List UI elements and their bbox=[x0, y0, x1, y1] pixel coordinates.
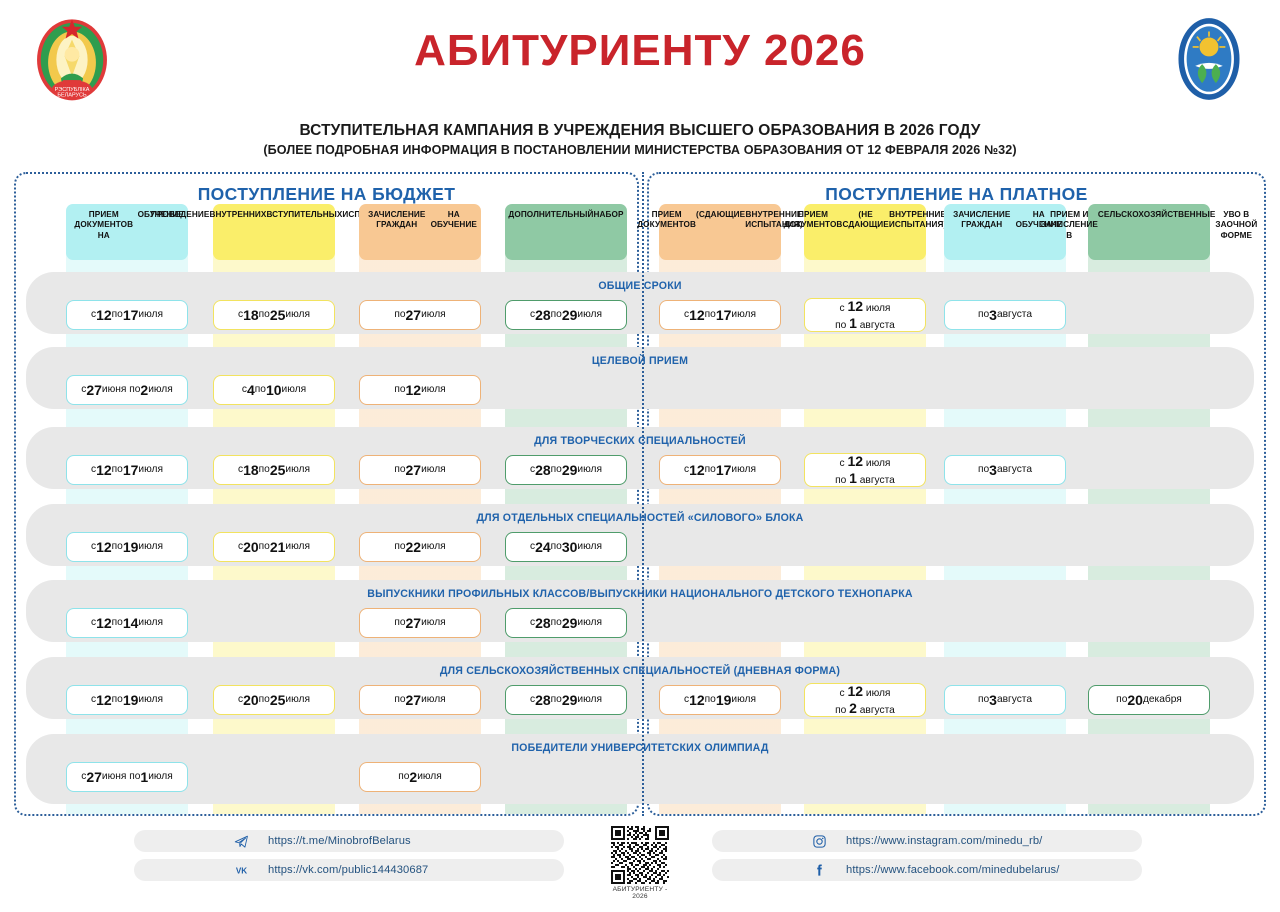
column-header-line: ПРИЕМ ДОКУМЕНТОВ bbox=[637, 210, 696, 231]
date-chip: с 12 июляпо 1 августа bbox=[804, 453, 926, 487]
timeline-row-label: ОБЩИЕ СРОКИ bbox=[26, 280, 1254, 292]
social-link-url[interactable]: https://www.instagram.com/minedu_rb/ bbox=[846, 835, 1042, 847]
date-chip: с 28 по 29 июля bbox=[505, 455, 627, 485]
date-chip: с 12 июляпо 1 августа bbox=[804, 298, 926, 332]
date-chip: с 28 по 29 июля bbox=[505, 685, 627, 715]
timeline-row: ВЫПУСКНИКИ ПРОФИЛЬНЫХ КЛАССОВ/ВЫПУСКНИКИ… bbox=[26, 580, 1254, 642]
timeline-row-label: ВЫПУСКНИКИ ПРОФИЛЬНЫХ КЛАССОВ/ВЫПУСКНИКИ… bbox=[26, 588, 1254, 600]
page-title: АБИТУРИЕНТУ 2026 bbox=[0, 26, 1280, 76]
timeline-row-label: ПОБЕДИТЕЛИ УНИВЕРСИТЕТСКИХ ОЛИМПИАД bbox=[26, 742, 1254, 754]
page-header: РЭСПУБЛІКА БЕЛАРУСЬ АБИТУРИЕНТУ 2026 bbox=[0, 0, 1280, 108]
social-link-row[interactable]: https://t.me/MinobrofBelarus bbox=[134, 830, 564, 852]
instagram-icon[interactable] bbox=[808, 830, 830, 852]
social-link-row[interactable]: https://www.facebook.com/minedubelarus/ bbox=[712, 859, 1142, 881]
column-header-c2: ПРОВЕДЕНИЕВНУТРЕННИХВСТУПИТЕЛЬНЫХИСПЫТАН… bbox=[213, 204, 335, 260]
column-header-line: ПРИЕМ И ЗАЧИСЛЕНИЕ В bbox=[1041, 210, 1098, 241]
qr-caption: АБИТУРИЕНТУ - 2026 bbox=[604, 886, 676, 900]
date-chip: с 12 по 17 июля bbox=[66, 300, 188, 330]
date-chip: по 27 июля bbox=[359, 455, 481, 485]
column-header-line: ПРИЕМ ДОКУМЕНТОВ НА bbox=[70, 210, 138, 241]
date-chip: с 18 по 25 июля bbox=[213, 455, 335, 485]
column-header-line: (НЕ СДАЮЩИЕ bbox=[842, 210, 888, 231]
timeline-row-label: ДЛЯ ТВОРЧЕСКИХ СПЕЦИАЛЬНОСТЕЙ bbox=[26, 435, 1254, 447]
date-chip: с 28 по 29 июля bbox=[505, 300, 627, 330]
social-link-row[interactable]: https://www.instagram.com/minedu_rb/ bbox=[712, 830, 1142, 852]
timeline-row: ПОБЕДИТЕЛИ УНИВЕРСИТЕТСКИХ ОЛИМПИАД bbox=[26, 734, 1254, 804]
social-link-url[interactable]: https://vk.com/public144430687 bbox=[268, 864, 428, 876]
date-chip: с 4 по 10 июля bbox=[213, 375, 335, 405]
date-chip: по 12 июля bbox=[359, 375, 481, 405]
infographic-page: РЭСПУБЛІКА БЕЛАРУСЬ АБИТУРИЕНТУ 2026 ВСТ… bbox=[0, 0, 1280, 912]
date-chip: с 27 июня по 2 июля bbox=[66, 375, 188, 405]
column-header-c6: ПРИЕМ ДОКУМЕНТОВ(НЕ СДАЮЩИЕВНУТРЕННИЕ ИС… bbox=[804, 204, 926, 260]
column-header-line: ДОПОЛНИТЕЛЬНЫЙ bbox=[508, 210, 593, 220]
date-chip: по 2 июля bbox=[359, 762, 481, 792]
page-footer: https://t.me/MinobrofBelarusVKhttps://vk… bbox=[0, 824, 1280, 912]
timeline-row-label: ЦЕЛЕВОЙ ПРИЕМ bbox=[26, 355, 1254, 367]
qr-code bbox=[611, 826, 669, 884]
date-chip: с 12 по 19 июля bbox=[659, 685, 781, 715]
column-header-line: СЕЛЬСКОХОЗЯЙСТВЕННЫЕ bbox=[1098, 210, 1215, 220]
column-header-line: ПРОВЕДЕНИЕ bbox=[151, 210, 210, 220]
social-link-row[interactable]: VKhttps://vk.com/public144430687 bbox=[134, 859, 564, 881]
column-header-c5: ПРИЕМ ДОКУМЕНТОВ(СДАЮЩИЕВНУТРЕННИЕ ИСПЫТ… bbox=[659, 204, 781, 260]
column-header-line: ВСТУПИТЕЛЬНЫХ bbox=[266, 210, 342, 220]
date-chip: по 27 июля bbox=[359, 300, 481, 330]
timeline-row: ДЛЯ СЕЛЬСКОХОЗЯЙСТВЕННЫХ СПЕЦИАЛЬНОСТЕЙ … bbox=[26, 657, 1254, 719]
section-title-paid: ПОСТУПЛЕНИЕ НА ПЛАТНОЕ bbox=[647, 184, 1266, 205]
social-links-right: https://www.instagram.com/minedu_rb/http… bbox=[712, 830, 1142, 888]
social-links-left: https://t.me/MinobrofBelarusVKhttps://vk… bbox=[134, 830, 564, 888]
column-header-c4: ДОПОЛНИТЕЛЬНЫЙНАБОР bbox=[505, 204, 627, 260]
date-chip: с 18 по 25 июля bbox=[213, 300, 335, 330]
subtitle-primary: ВСТУПИТЕЛЬНАЯ КАМПАНИЯ В УЧРЕЖДЕНИЯ ВЫСШ… bbox=[0, 122, 1280, 140]
date-chip: по 27 июля bbox=[359, 685, 481, 715]
date-chip: с 24 по 30 июля bbox=[505, 532, 627, 562]
date-chip: с 12 по 17 июля bbox=[66, 455, 188, 485]
section-divider bbox=[642, 172, 644, 816]
date-chip: с 20 по 21 июля bbox=[213, 532, 335, 562]
column-header-c3: ЗАЧИСЛЕНИЕ ГРАЖДАННА ОБУЧЕНИЕ bbox=[359, 204, 481, 260]
column-header-line: ПРИЕМ ДОКУМЕНТОВ bbox=[784, 210, 843, 231]
date-chip: по 3 августа bbox=[944, 300, 1066, 330]
date-chip: по 20 декабря bbox=[1088, 685, 1210, 715]
date-chip: с 12 по 14 июля bbox=[66, 608, 188, 638]
date-chip: с 27 июня по 1 июля bbox=[66, 762, 188, 792]
column-header-line: НА ОБУЧЕНИЕ bbox=[431, 210, 477, 231]
column-header-c8: ПРИЕМ И ЗАЧИСЛЕНИЕ ВСЕЛЬСКОХОЗЯЙСТВЕННЫЕ… bbox=[1088, 204, 1210, 260]
date-chip: с 12 по 17 июля bbox=[659, 455, 781, 485]
date-chip: по 22 июля bbox=[359, 532, 481, 562]
qr-block: АБИТУРИЕНТУ - 2026 bbox=[604, 826, 676, 900]
date-chip: с 12 по 19 июля bbox=[66, 532, 188, 562]
date-chip: по 3 августа bbox=[944, 455, 1066, 485]
date-chip: по 27 июля bbox=[359, 608, 481, 638]
social-link-url[interactable]: https://t.me/MinobrofBelarus bbox=[268, 835, 411, 847]
subtitle-secondary: (БОЛЕЕ ПОДРОБНАЯ ИНФОРМАЦИЯ В ПОСТАНОВЛЕ… bbox=[0, 143, 1280, 157]
timeline-row-label: ДЛЯ СЕЛЬСКОХОЗЯЙСТВЕННЫХ СПЕЦИАЛЬНОСТЕЙ … bbox=[26, 665, 1254, 677]
facebook-icon[interactable] bbox=[808, 859, 830, 881]
column-header-line: (СДАЮЩИЕ bbox=[696, 210, 745, 220]
timeline-row: ОБЩИЕ СРОКИ bbox=[26, 272, 1254, 334]
column-header-line: УВО В ЗАОЧНОЙ ФОРМЕ bbox=[1215, 210, 1257, 241]
svg-text:БЕЛАРУСЬ: БЕЛАРУСЬ bbox=[57, 93, 87, 99]
column-header-line: ВНУТРЕННИЕ ИСПЫТАНИЯ) bbox=[889, 210, 947, 231]
timeline-row-label: ДЛЯ ОТДЕЛЬНЫХ СПЕЦИАЛЬНОСТЕЙ «СИЛОВОГО» … bbox=[26, 512, 1254, 524]
subtitle-block: ВСТУПИТЕЛЬНАЯ КАМПАНИЯ В УЧРЕЖДЕНИЯ ВЫСШ… bbox=[0, 122, 1280, 157]
date-chip: по 3 августа bbox=[944, 685, 1066, 715]
date-chip: с 12 по 17 июля bbox=[659, 300, 781, 330]
date-chip: с 12 июляпо 2 августа bbox=[804, 683, 926, 717]
admission-timeline-board: ПОСТУПЛЕНИЕ НА БЮДЖЕТ ПОСТУПЛЕНИЕ НА ПЛА… bbox=[14, 172, 1266, 816]
date-chip: с 20 по 25 июля bbox=[213, 685, 335, 715]
date-chip: с 12 по 19 июля bbox=[66, 685, 188, 715]
timeline-row: ЦЕЛЕВОЙ ПРИЕМ bbox=[26, 347, 1254, 409]
section-title-budget: ПОСТУПЛЕНИЕ НА БЮДЖЕТ bbox=[14, 184, 639, 205]
svg-text:VK: VK bbox=[235, 866, 246, 875]
social-link-url[interactable]: https://www.facebook.com/minedubelarus/ bbox=[846, 864, 1059, 876]
column-header-line: ВНУТРЕННИХ bbox=[209, 210, 266, 220]
timeline-row: ДЛЯ ОТДЕЛЬНЫХ СПЕЦИАЛЬНОСТЕЙ «СИЛОВОГО» … bbox=[26, 504, 1254, 566]
column-header-line: ЗАЧИСЛЕНИЕ ГРАЖДАН bbox=[363, 210, 431, 231]
vk-icon[interactable]: VK bbox=[230, 859, 252, 881]
column-header-line: ЗАЧИСЛЕНИЕ ГРАЖДАН bbox=[948, 210, 1016, 231]
telegram-icon[interactable] bbox=[230, 830, 252, 852]
date-chip: с 28 по 29 июля bbox=[505, 608, 627, 638]
timeline-row: ДЛЯ ТВОРЧЕСКИХ СПЕЦИАЛЬНОСТЕЙ bbox=[26, 427, 1254, 489]
column-header-line: НАБОР bbox=[594, 210, 624, 220]
